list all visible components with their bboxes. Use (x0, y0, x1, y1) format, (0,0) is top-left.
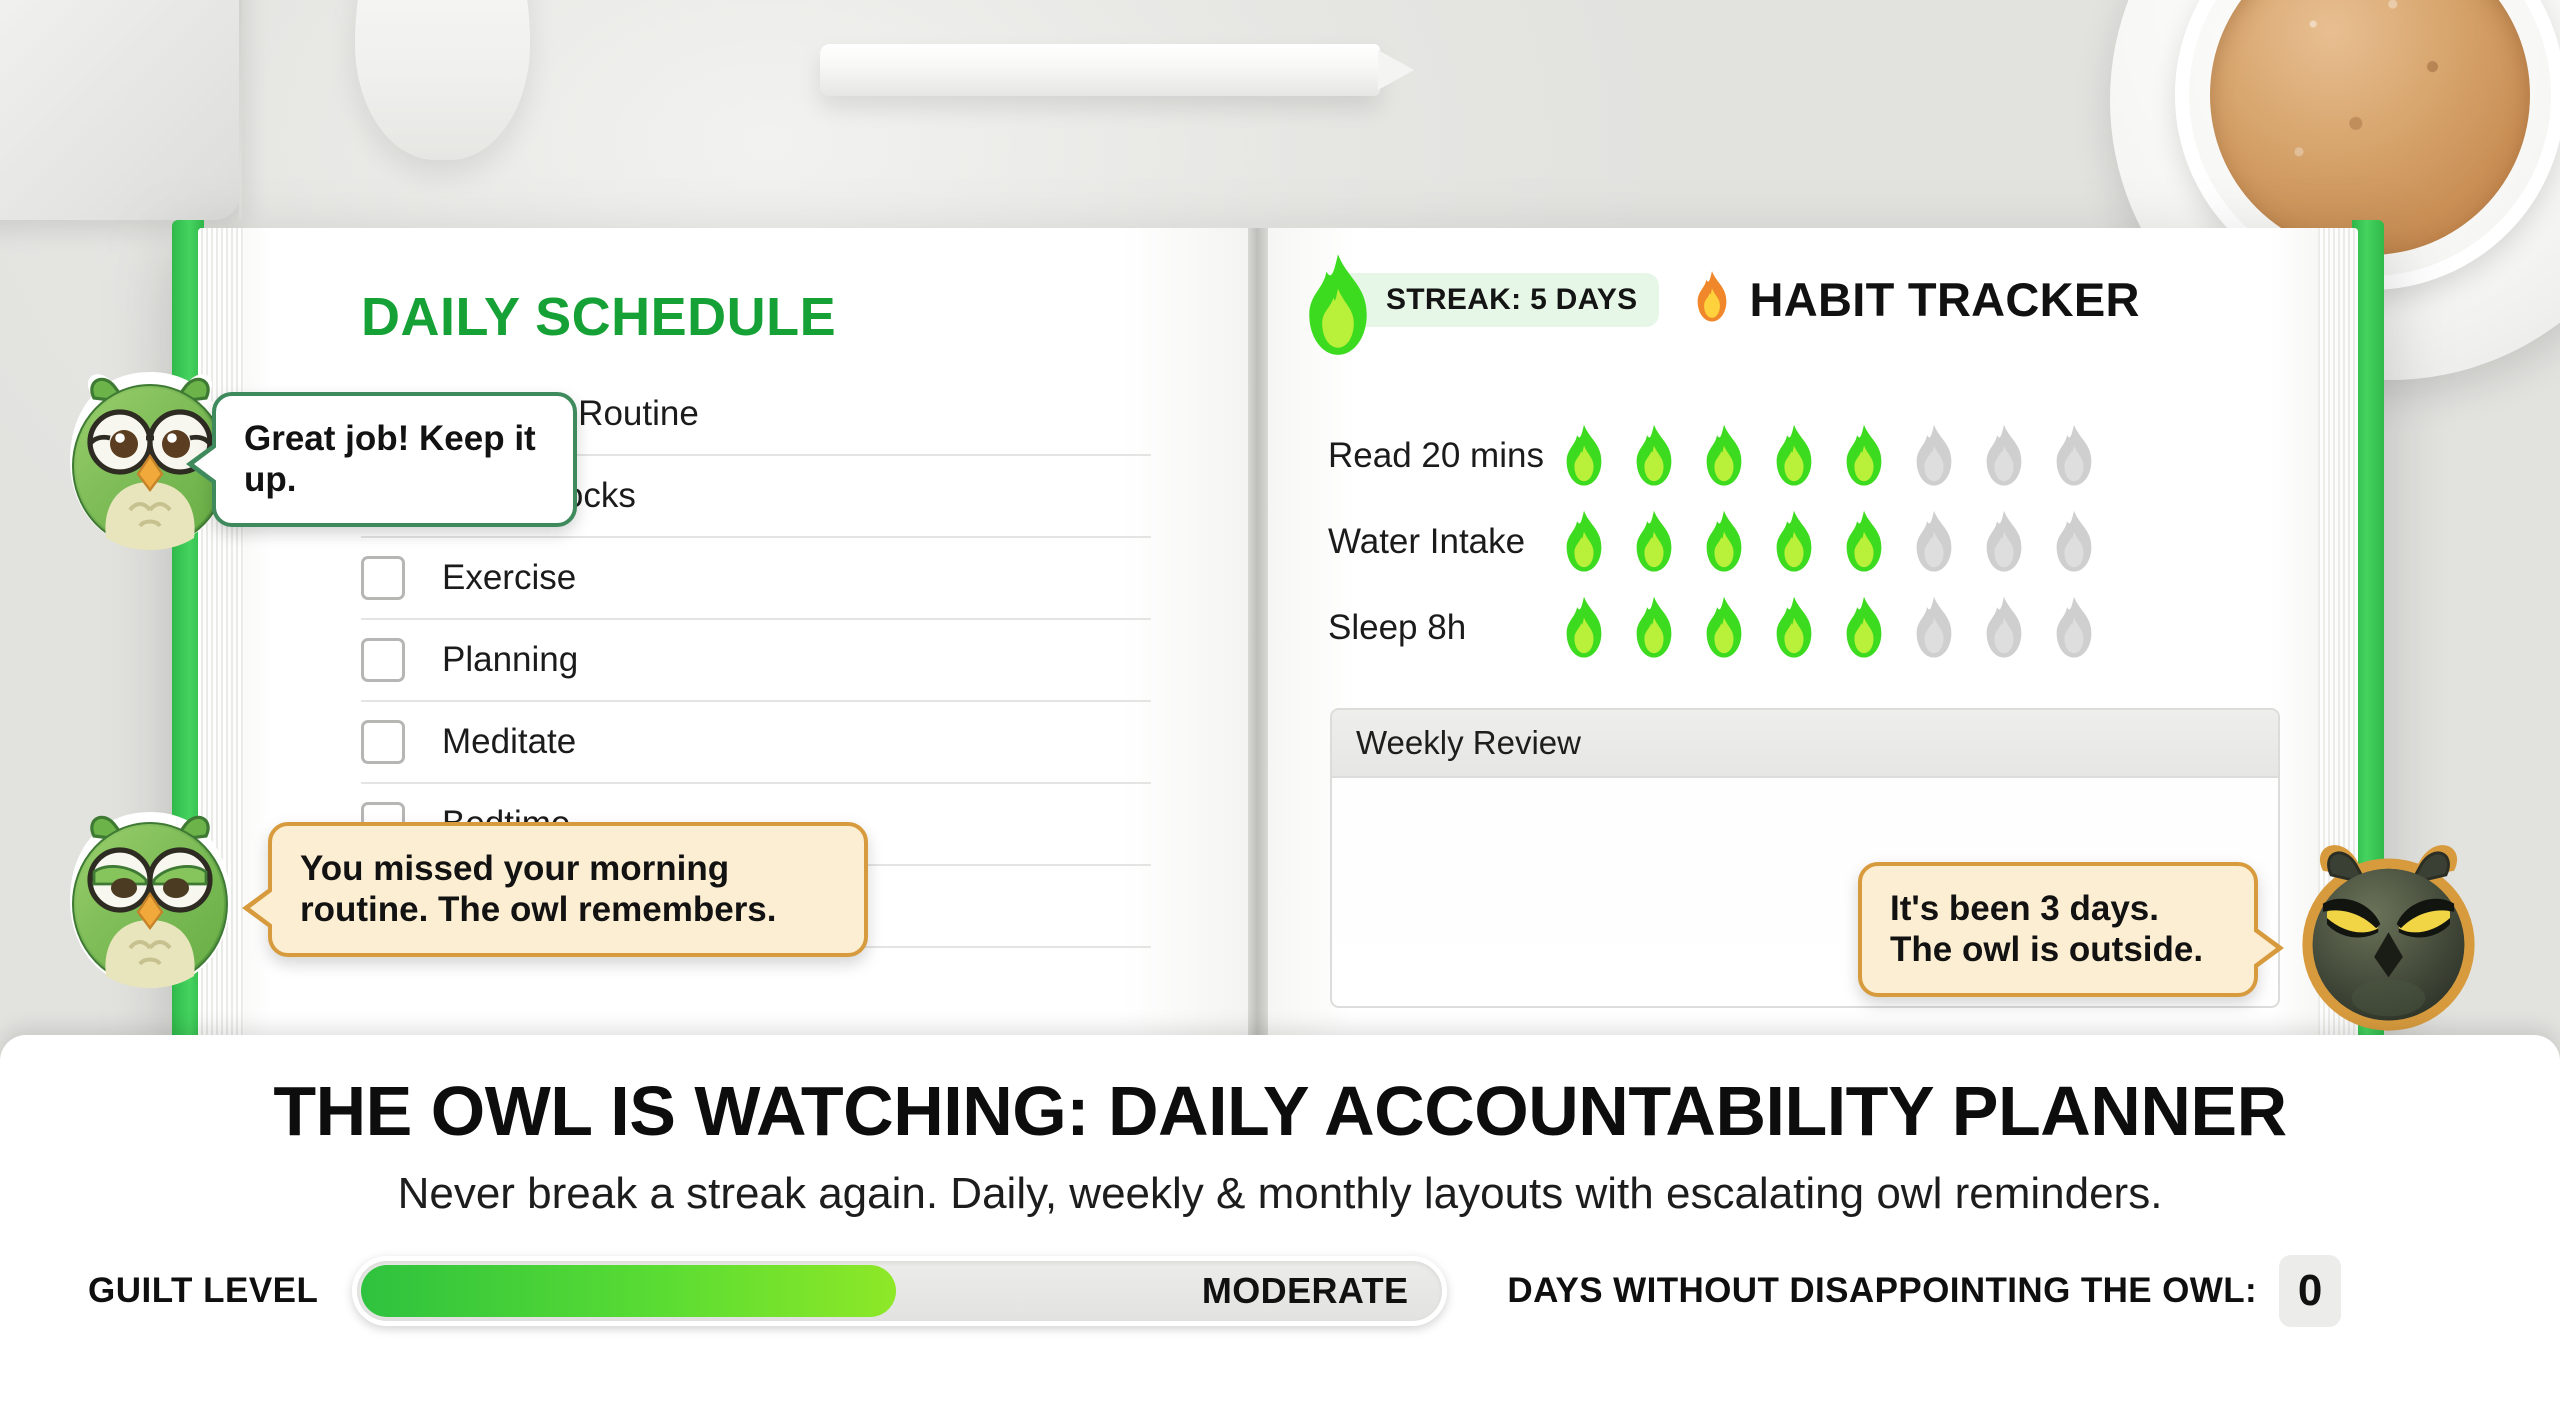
flame-icon[interactable] (1836, 509, 1892, 575)
flame-icon[interactable] (1766, 509, 1822, 575)
habit-flames[interactable] (1556, 423, 2102, 489)
flame-icon[interactable] (1696, 509, 1752, 575)
weekly-review-label: Weekly Review (1332, 710, 2278, 778)
habit-label: Water Intake (1328, 522, 1556, 562)
habit-tracker-title: HABIT TRACKER (1749, 272, 2139, 327)
owl-bubble-praise: Great job! Keep it up. (212, 392, 577, 527)
guilt-level-fill (361, 1265, 896, 1317)
flame-icon[interactable] (1906, 595, 1962, 661)
promo-banner: THE OWL IS WATCHING: DAILY ACCOUNTABILIT… (0, 1035, 2560, 1428)
flame-icon[interactable] (2046, 423, 2102, 489)
flame-icon[interactable] (1626, 595, 1682, 661)
checkbox[interactable] (361, 556, 405, 600)
flame-icon[interactable] (1836, 423, 1892, 489)
checklist-item-label: Meditate (442, 722, 576, 762)
banner-metrics-row: GUILT LEVEL MODERATE DAYS WITHOUT DISAPP… (0, 1255, 2560, 1327)
page-title-daily-schedule: DAILY SCHEDULE (361, 286, 836, 348)
flame-icon[interactable] (1626, 423, 1682, 489)
flame-icon[interactable] (1556, 509, 1612, 575)
checklist-item-label: Planning (442, 640, 578, 680)
notebook-spine (1248, 228, 1268, 1043)
habit-row: Sleep 8h (1328, 585, 2288, 671)
days-without-label: DAYS WITHOUT DISAPPOINTING THE OWL: (1507, 1271, 2257, 1311)
habit-flames[interactable] (1556, 595, 2102, 661)
days-without-value: 0 (2279, 1255, 2341, 1327)
flame-icon[interactable] (1906, 509, 1962, 575)
habit-title-group: HABIT TRACKER (1689, 268, 2139, 331)
habit-flames[interactable] (1556, 509, 2102, 575)
habit-label: Sleep 8h (1328, 608, 1556, 648)
banner-subline: Never break a streak again. Daily, weekl… (0, 1169, 2560, 1219)
flame-icon[interactable] (1976, 423, 2032, 489)
flame-icon[interactable] (1766, 423, 1822, 489)
flame-icon[interactable] (1976, 595, 2032, 661)
guilt-level-bar[interactable]: MODERATE (352, 1256, 1447, 1326)
flame-icon[interactable] (2046, 595, 2102, 661)
banner-headline: THE OWL IS WATCHING: DAILY ACCOUNTABILIT… (0, 1071, 2560, 1151)
habit-grid: Read 20 mins Water Intake Sleep 8h (1328, 413, 2288, 671)
threat-line-2: The owl is outside. (1890, 929, 2226, 970)
flame-icon[interactable] (1626, 509, 1682, 575)
habit-label: Read 20 mins (1328, 436, 1556, 476)
flame-icon[interactable] (1696, 595, 1752, 661)
checklist-item[interactable]: Meditate (361, 702, 1151, 784)
flame-icon[interactable] (1976, 509, 2032, 575)
habit-tracker-header: STREAK: 5 DAYS HABIT TRACKER (1328, 268, 2140, 331)
habit-row: Water Intake (1328, 499, 2288, 585)
checklist-item-label: Exercise (442, 558, 576, 598)
flame-icon[interactable] (1556, 595, 1612, 661)
checkbox[interactable] (361, 720, 405, 764)
checkbox[interactable] (361, 638, 405, 682)
streak-label: STREAK: 5 DAYS (1386, 283, 1637, 317)
mouse (355, 0, 530, 160)
flame-icon[interactable] (1906, 423, 1962, 489)
stylus-pen (820, 44, 1380, 96)
owl-bubble-threat: It's been 3 days. The owl is outside. (1858, 862, 2258, 997)
checklist-item[interactable]: Exercise (361, 538, 1151, 620)
habit-row: Read 20 mins (1328, 413, 2288, 499)
streak-badge: STREAK: 5 DAYS (1328, 273, 1659, 327)
flame-icon[interactable] (1766, 595, 1822, 661)
guilt-level-status: MODERATE (1202, 1270, 1409, 1312)
guilt-level-label: GUILT LEVEL (88, 1271, 318, 1311)
threat-line-1: It's been 3 days. (1890, 888, 2226, 929)
flame-icon (1292, 251, 1384, 366)
flame-icon[interactable] (2046, 509, 2102, 575)
guilt-line-2: routine. The owl remembers. (300, 889, 836, 930)
guilt-line-1: You missed your morning (300, 848, 836, 889)
owl-bubble-guilt: You missed your morning routine. The owl… (268, 822, 868, 957)
flame-icon[interactable] (1556, 423, 1612, 489)
owl-menacing[interactable] (2286, 838, 2491, 1048)
laptop-edge (0, 0, 240, 220)
checklist-item[interactable]: Planning (361, 620, 1151, 702)
owl-skeptical[interactable] (50, 800, 250, 1005)
flame-icon[interactable] (1696, 423, 1752, 489)
flame-orange-icon (1689, 268, 1735, 331)
flame-icon[interactable] (1836, 595, 1892, 661)
